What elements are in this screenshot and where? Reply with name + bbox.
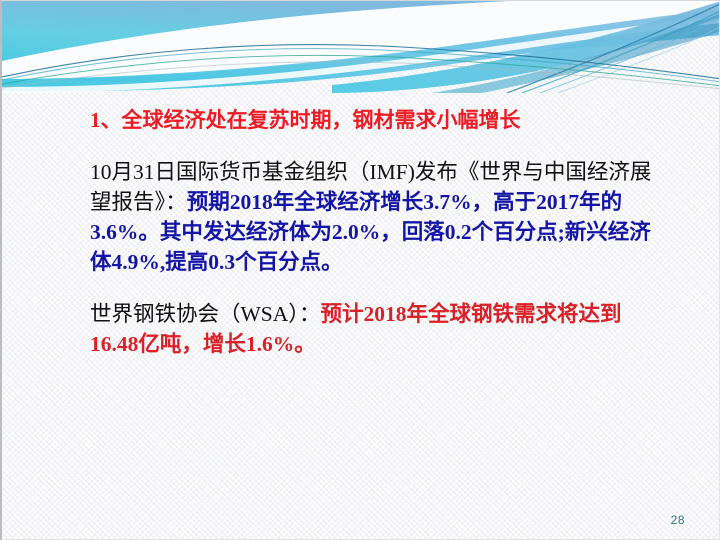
slide-body: 1、全球经济处在复苏时期，钢材需求小幅增长 10月31日国际货币基金组织（IMF…	[90, 105, 664, 359]
page-title: 1、全球经济处在复苏时期，钢材需求小幅增长	[90, 105, 664, 135]
heading-text: 1、全球经济处在复苏时期，钢材需求小幅增长	[90, 108, 521, 132]
paragraph-imf: 10月31日国际货币基金组织（IMF)发布《世界与中国经济展望报告》：预期201…	[90, 157, 664, 277]
page-number: 28	[671, 513, 685, 527]
wsa-lead-text: 世界钢铁协会（WSA）：	[90, 302, 321, 326]
slide-canvas: 1、全球经济处在复苏时期，钢材需求小幅增长 10月31日国际货币基金组织（IMF…	[0, 0, 720, 540]
blue-cyan-ribbon-wave-icon	[2, 1, 720, 93]
paragraph-wsa: 世界钢铁协会（WSA）：预计2018年全球钢铁需求将达到16.48亿吨，增长1.…	[90, 299, 664, 359]
header-wave-decoration	[2, 1, 720, 93]
